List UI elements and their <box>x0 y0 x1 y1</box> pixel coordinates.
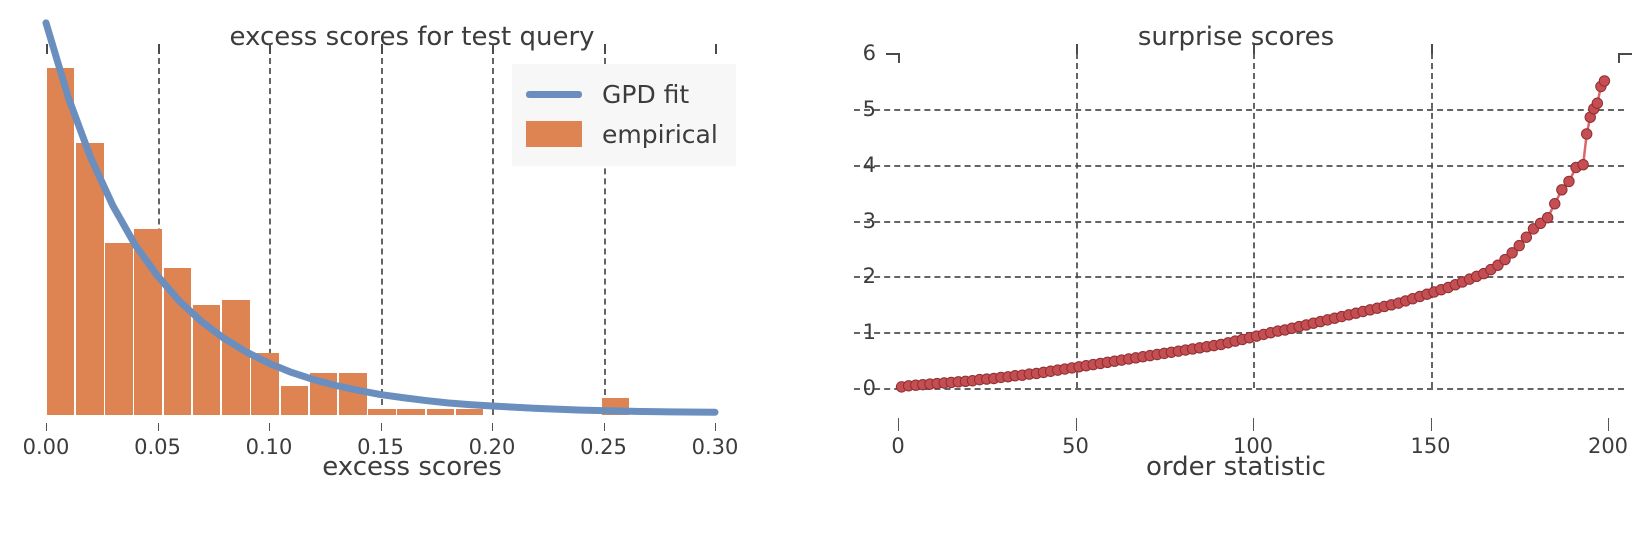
data-point-marker <box>1582 129 1592 139</box>
legend-item-gpd-fit: GPD fit <box>526 74 718 114</box>
y-tick-label: 5 <box>846 97 876 121</box>
x-tick-mark <box>604 423 605 431</box>
x-tick-mark <box>1253 418 1254 431</box>
legend-label-gpd-fit: GPD fit <box>602 80 689 109</box>
x-axis-label-excess-scores: excess scores <box>0 452 824 482</box>
data-point-marker <box>1578 159 1588 169</box>
data-point-marker <box>1542 213 1552 223</box>
legend-item-empirical: empirical <box>526 114 718 154</box>
x-tick-mark <box>1431 418 1432 431</box>
x-tick-mark <box>158 423 159 431</box>
x-tick-mark <box>898 418 899 431</box>
y-tick-label: 4 <box>846 153 876 177</box>
panel-surprise-scores: surprise scores 050100150200 0123456 ord… <box>824 0 1648 540</box>
figure-canvas: excess scores for test query 0.000.050.1… <box>0 0 1648 540</box>
data-point-marker <box>1599 76 1609 86</box>
x-tick-mark <box>715 423 716 431</box>
legend-line-swatch-gpd <box>526 91 582 98</box>
data-point-marker <box>1557 185 1567 195</box>
panel-excess-scores: excess scores for test query 0.000.050.1… <box>0 0 824 540</box>
y-tick-label: 6 <box>846 41 876 65</box>
data-point-marker <box>1521 232 1531 242</box>
x-tick-mark <box>381 423 382 431</box>
y-tick-label: 1 <box>846 320 876 344</box>
y-tick-label: 0 <box>846 376 876 400</box>
legend-excess-scores: GPD fit empirical <box>512 64 736 166</box>
data-point-marker <box>1592 98 1602 108</box>
y-tick-label: 2 <box>846 264 876 288</box>
x-tick-mark <box>1608 418 1609 431</box>
y-tick-label: 3 <box>846 209 876 233</box>
x-tick-mark <box>492 423 493 431</box>
x-tick-mark <box>46 423 47 431</box>
legend-patch-swatch-empirical <box>526 121 582 147</box>
x-axis-label-order-statistic: order statistic <box>824 452 1648 482</box>
data-point-marker <box>1564 176 1574 186</box>
data-point-marker <box>1550 199 1560 209</box>
legend-label-empirical: empirical <box>602 120 718 149</box>
x-tick-mark <box>269 423 270 431</box>
x-tick-mark <box>1076 418 1077 431</box>
data-point-marker <box>1514 240 1524 250</box>
